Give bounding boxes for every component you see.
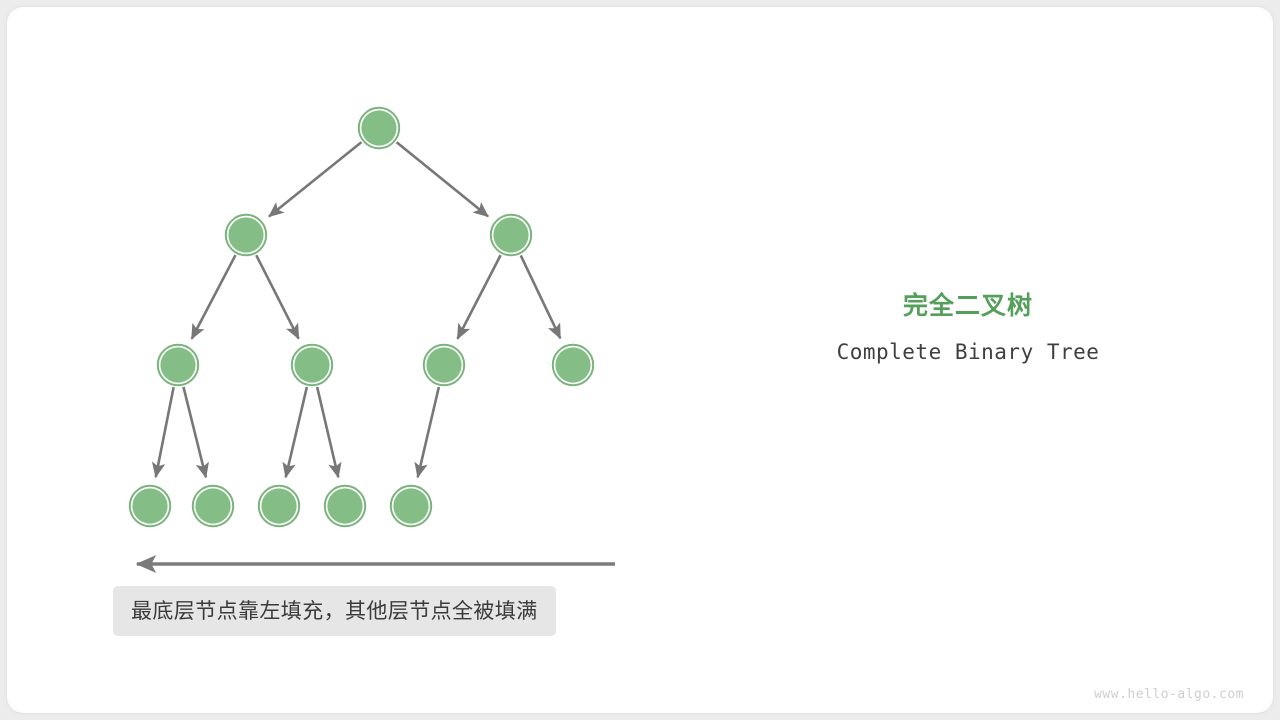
diagram-canvas: 完全二叉树 Complete Binary Tree 最底层节点靠左填充，其他层… <box>0 0 1280 720</box>
tree-node <box>192 485 234 527</box>
tree-edge <box>418 387 439 477</box>
tree-node <box>157 344 199 386</box>
tree-nodes <box>129 107 594 527</box>
caption-pill: 最底层节点靠左填充，其他层节点全被填满 <box>113 586 556 636</box>
watermark: www.hello-algo.com <box>1094 687 1244 702</box>
tree-edge <box>396 142 488 216</box>
tree-node <box>291 344 333 386</box>
tree-edge <box>286 387 307 477</box>
tree-node <box>324 485 366 527</box>
title-en: Complete Binary Tree <box>720 340 1216 364</box>
tree-node <box>490 214 532 256</box>
tree-edge <box>521 255 561 338</box>
tree-edge <box>269 142 361 216</box>
tree-edge <box>156 387 174 477</box>
tree-node <box>258 485 300 527</box>
tree-node <box>552 344 594 386</box>
tree-node <box>129 485 171 527</box>
tree-edge <box>458 255 501 339</box>
tree-node <box>225 214 267 256</box>
legend-labels: 完全二叉树 Complete Binary Tree <box>720 290 1216 364</box>
title-zh: 完全二叉树 <box>720 290 1216 322</box>
tree-node <box>390 485 432 527</box>
tree-edge <box>317 387 338 477</box>
tree-edge <box>192 255 236 339</box>
tree-edge <box>256 255 298 339</box>
tree-edges <box>156 142 561 477</box>
tree-node <box>423 344 465 386</box>
tree-edge <box>183 387 205 478</box>
tree-node <box>358 107 400 149</box>
